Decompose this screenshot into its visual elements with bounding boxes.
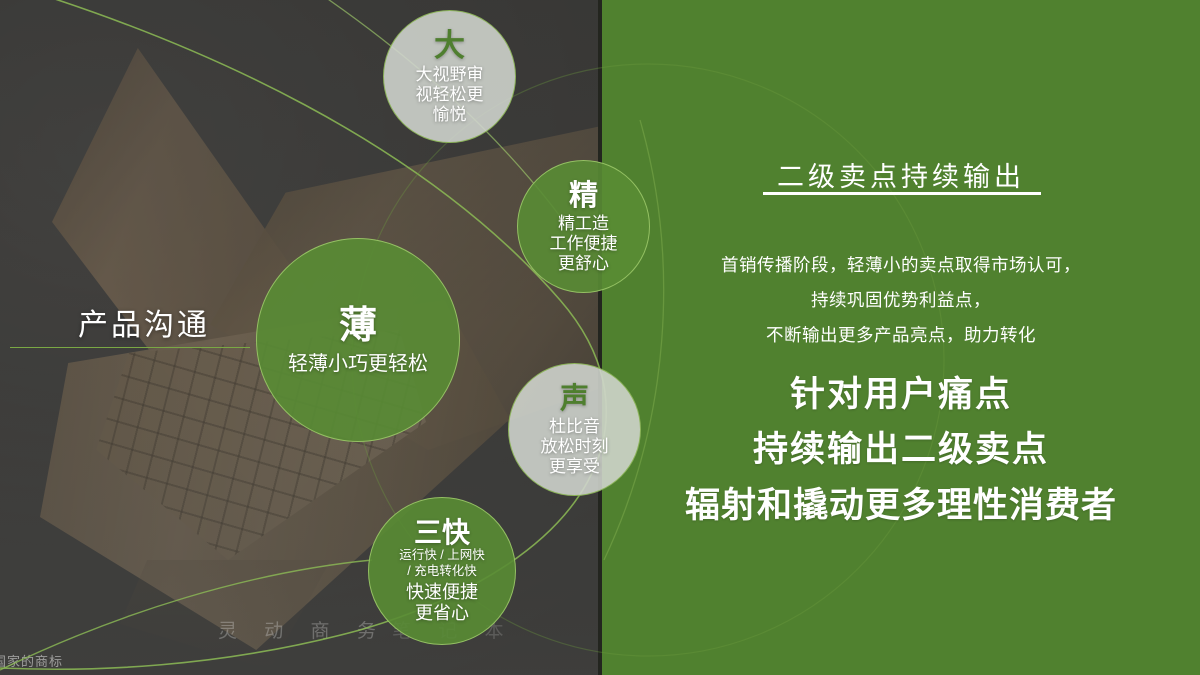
body-line-3: 不断输出更多产品亮点，助力转化: [602, 318, 1200, 353]
bubble-jing-title: 精: [569, 179, 598, 213]
slide-root: 灵 动 商 务 笔 记 本 国家的商标 产品沟通 大 大视野审 视轻松更 愉悦 …: [0, 0, 1200, 675]
headline-2: 持续输出二级卖点: [602, 422, 1200, 477]
bubble-bao-title: 薄: [339, 304, 377, 349]
photo-caption-lingdong: 灵 动 商 务: [218, 616, 387, 643]
bubble-sheng-title: 声: [560, 382, 589, 416]
headline-1: 针对用户痛点: [602, 368, 1200, 422]
right-pane-headlines: 针对用户痛点 持续输出二级卖点 辐射和撬动更多理性消费者: [602, 368, 1200, 533]
section-label-rule: [10, 347, 250, 348]
bubble-bao-subtitle: 轻薄小巧更轻松: [288, 353, 428, 377]
bubble-sankuai-subtitle: 快速便捷 更省心: [406, 582, 478, 624]
photo-caption-trademark: 国家的商标: [0, 651, 63, 670]
bubble-sankuai-micro-text: 运行快 / 上网快 / 充电转化快: [399, 548, 484, 579]
bubble-sankuai-title: 三快: [414, 518, 470, 547]
headline-3: 辐射和撬动更多理性消费者: [602, 478, 1200, 533]
body-line-1: 首销传播阶段，轻薄小的卖点取得市场认可，: [602, 248, 1200, 283]
right-pane-title-underline: [763, 192, 1041, 195]
bubble-sheng-subtitle: 杜比音 放松时刻 更享受: [541, 417, 609, 477]
body-line-2: 持续巩固优势利益点，: [602, 283, 1200, 318]
selling-point-bubble-da[interactable]: 大 大视野审 视轻松更 愉悦: [383, 10, 516, 143]
section-label-product-communication: 产品沟通: [78, 300, 210, 344]
bubble-da-subtitle: 大视野审 视轻松更 愉悦: [416, 65, 484, 125]
right-pane-title: 二级卖点持续输出: [602, 155, 1200, 194]
right-pane-body: 首销传播阶段，轻薄小的卖点取得市场认可， 持续巩固优势利益点， 不断输出更多产品…: [602, 248, 1200, 353]
selling-point-bubble-sankuai[interactable]: 三快 运行快 / 上网快 / 充电转化快 快速便捷 更省心: [368, 497, 516, 645]
bubble-da-title: 大: [434, 28, 465, 65]
selling-point-bubble-bao[interactable]: 薄 轻薄小巧更轻松: [256, 238, 460, 442]
